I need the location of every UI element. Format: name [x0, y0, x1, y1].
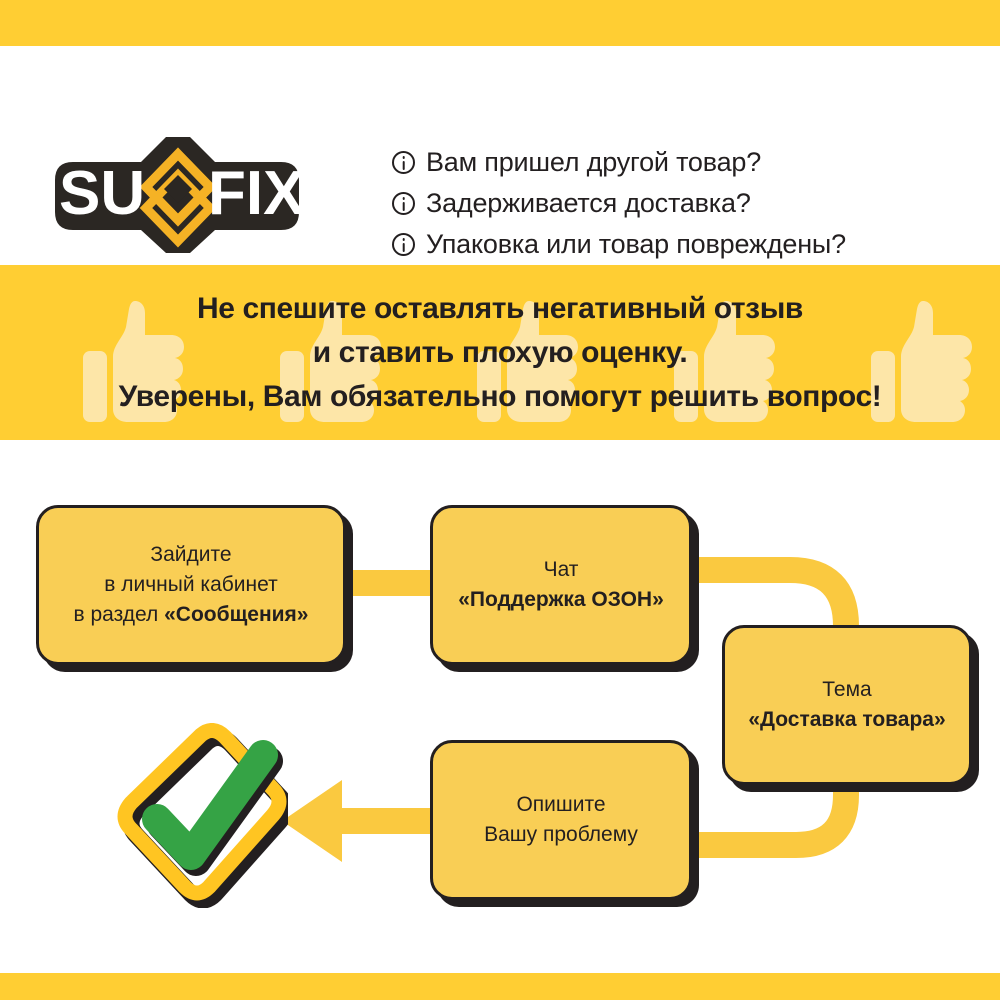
banner-line-1: Не спешите оставлять негативный отзыв [197, 287, 803, 331]
banner-line-3: Уверены, Вам обязательно помогут решить … [119, 375, 882, 419]
svg-text:FIX: FIX [208, 159, 304, 228]
info-icon [392, 151, 415, 174]
banner-line-2: и ставить плохую оценку. [313, 331, 688, 375]
flow-node-topic-text: Тема «Доставка товара» [740, 675, 953, 735]
flow-node-chat-text: Чат «Поддержка ОЗОН» [450, 555, 672, 615]
header-section: SU FIX Вам пришел другой товар? Задержив… [0, 46, 1000, 265]
describe-line-1: Опишите [516, 793, 605, 816]
flow-diagram: Зайдите в личный кабинет в раздел «Сообщ… [0, 440, 1000, 973]
question-text-2: Задерживается доставка? [426, 183, 751, 224]
question-list: Вам пришел другой товар? Задерживается д… [392, 142, 982, 265]
question-item-3: Упаковка или товар повреждены? [392, 224, 982, 265]
connector-messages-to-chat [340, 570, 440, 596]
info-icon [392, 233, 415, 256]
poster-canvas: SU FIX Вам пришел другой товар? Задержив… [0, 0, 1000, 1000]
messages-line-2: в личный кабинет [104, 573, 277, 596]
flow-node-messages-text: Зайдите в личный кабинет в раздел «Сообщ… [65, 540, 316, 630]
question-text-1: Вам пришел другой товар? [426, 142, 761, 183]
svg-text:SU: SU [59, 159, 145, 228]
warning-banner: Не спешите оставлять негативный отзыв и … [0, 265, 1000, 440]
result-checkmark [113, 723, 288, 908]
flow-node-describe-text: Опишите Вашу проблему [476, 790, 646, 850]
sufix-logo-svg: SU FIX [42, 130, 312, 260]
flow-node-topic[interactable]: Тема «Доставка товара» [722, 625, 972, 785]
topic-line-2: «Доставка товара» [748, 708, 945, 731]
flow-node-chat[interactable]: Чат «Поддержка ОЗОН» [430, 505, 692, 665]
messages-line-3-bold: «Сообщения» [164, 603, 308, 626]
green-checkmark-icon [113, 723, 288, 908]
chat-line-1: Чат [544, 558, 579, 581]
top-accent-bar [0, 0, 1000, 46]
chat-line-2: «Поддержка ОЗОН» [458, 588, 664, 611]
flow-node-messages[interactable]: Зайдите в личный кабинет в раздел «Сообщ… [36, 505, 346, 665]
banner-text-block: Не спешите оставлять негативный отзыв и … [0, 265, 1000, 440]
messages-line-3: в раздел [73, 603, 164, 626]
messages-line-1: Зайдите [150, 543, 231, 566]
question-text-3: Упаковка или товар повреждены? [426, 224, 846, 265]
sufix-logo: SU FIX [42, 130, 312, 260]
describe-line-2: Вашу проблему [484, 823, 638, 846]
info-icon [392, 192, 415, 215]
question-item-1: Вам пришел другой товар? [392, 142, 982, 183]
bottom-accent-bar [0, 973, 1000, 1000]
topic-line-1: Тема [822, 678, 871, 701]
flow-node-describe[interactable]: Опишите Вашу проблему [430, 740, 692, 900]
question-item-2: Задерживается доставка? [392, 183, 982, 224]
connector-arrow-to-result [282, 780, 430, 862]
